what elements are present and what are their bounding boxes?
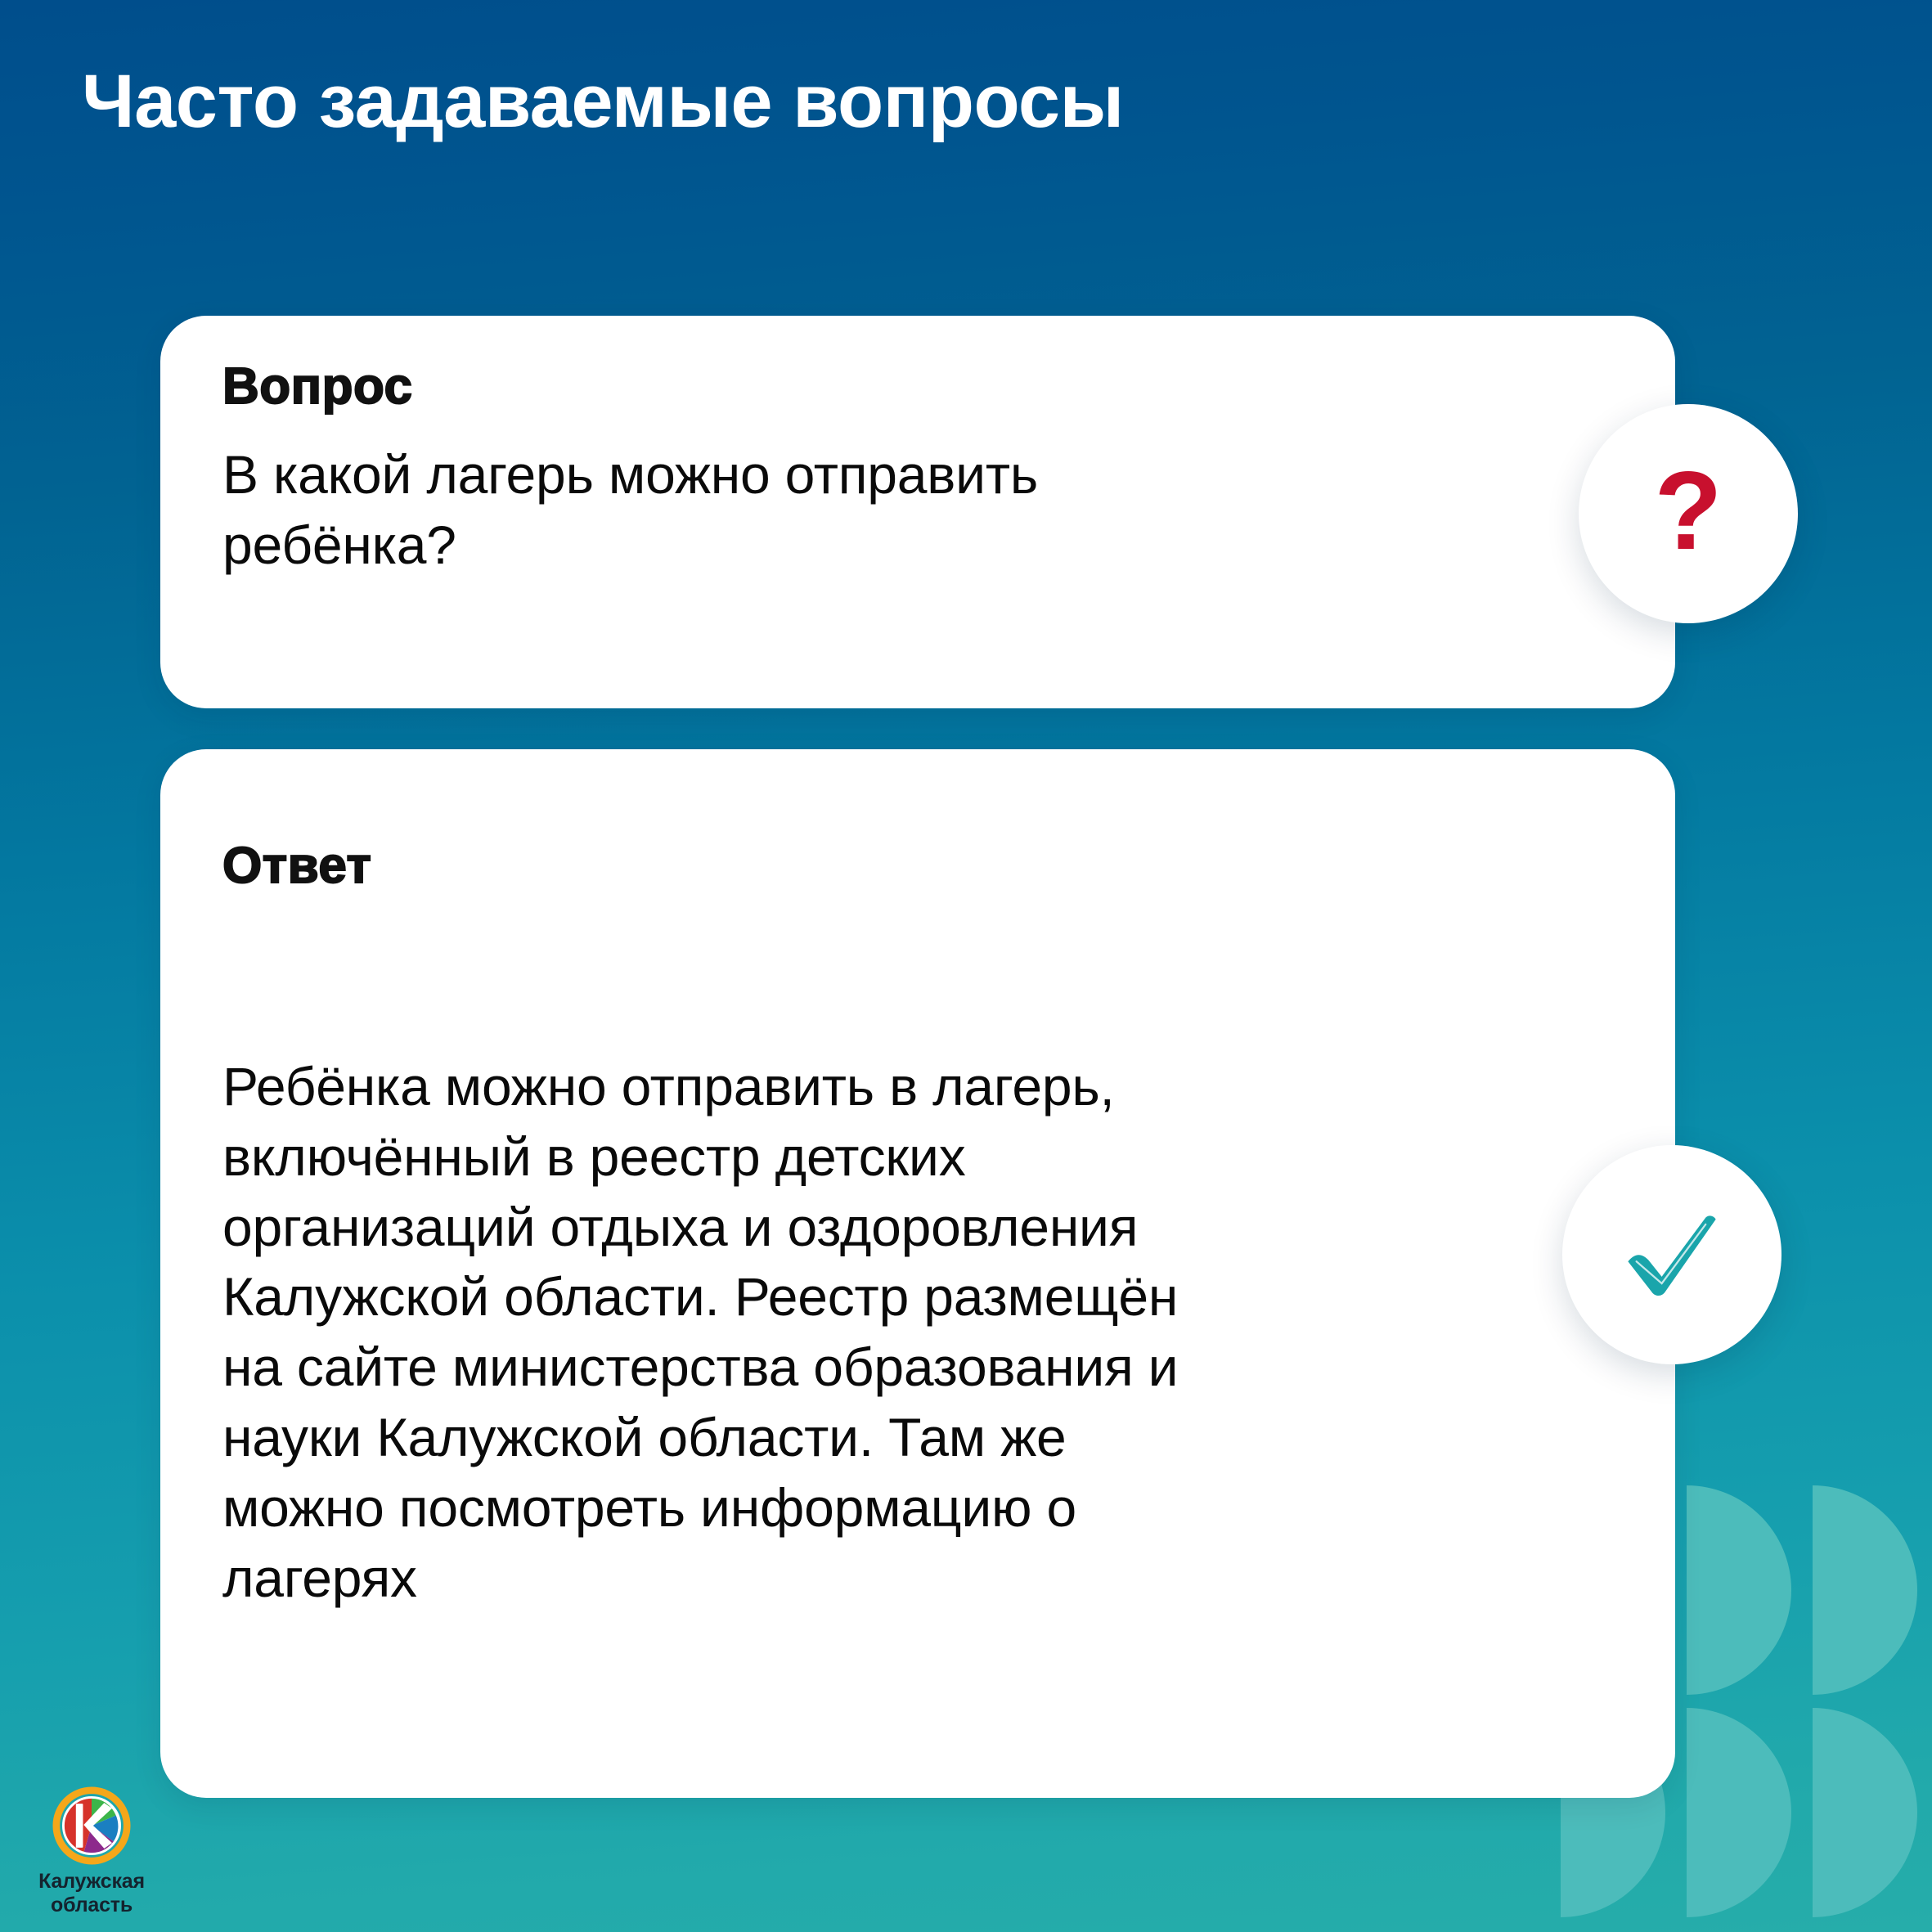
logo-text-line1: Калужская <box>18 1870 165 1894</box>
question-text: В какой лагерь можно отправить ребёнка? <box>222 440 1139 581</box>
checkmark-icon <box>1618 1201 1726 1309</box>
question-badge: ? <box>1579 404 1798 623</box>
page-title: Часто задаваемые вопросы <box>82 61 1124 143</box>
answer-text: Ребёнка можно отправить в лагерь, включё… <box>222 1052 1212 1613</box>
question-card: Вопрос В какой лагерь можно отправить ре… <box>160 316 1675 708</box>
question-mark-icon: ? <box>1654 455 1722 566</box>
logo-text-line2: область <box>18 1894 165 1917</box>
answer-card: Ответ Ребёнка можно отправить в лагерь, … <box>160 749 1675 1798</box>
answer-badge <box>1562 1145 1781 1364</box>
answer-label: Ответ <box>222 841 371 892</box>
kaluga-region-logo-icon <box>52 1786 131 1865</box>
question-label: Вопрос <box>222 362 413 412</box>
kaluga-region-logo: Калужская область <box>18 1786 165 1917</box>
faq-slide: Часто задаваемые вопросы Вопрос В какой … <box>0 0 1932 1932</box>
